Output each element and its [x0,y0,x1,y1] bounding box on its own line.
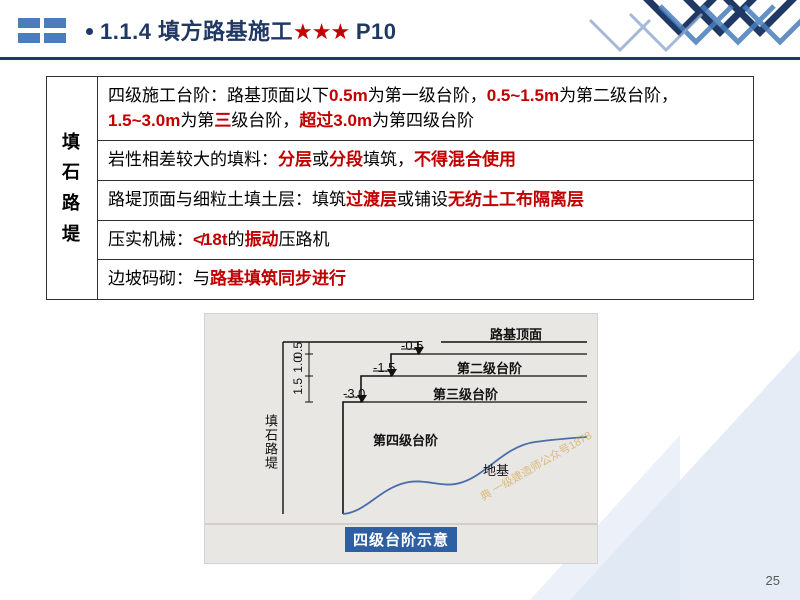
header-logo-blocks [18,18,70,44]
text-segment: 的 [228,230,245,249]
table-row: 压实机械：≮18t的振动压路机 [47,220,754,260]
figure-label-left-vertical: 填石路堤 [261,414,280,470]
text-segment: 压路机 [279,230,330,249]
logo-block-1 [18,18,40,28]
text-segment: 级台阶， [231,111,299,130]
text-segment: ≮18t [193,230,228,249]
text-segment: 0.5~1.5m [487,86,559,105]
text-segment: 岩性相差较大的填料： [108,150,278,169]
text-segment: 0.5m [329,86,368,105]
text-segment: 填筑， [363,150,414,169]
figure-label-step3: 第三级台阶 [433,384,498,403]
text-segment: 为第二级台阶， [559,86,678,105]
text-segment: 边坡码砌：与 [108,269,210,288]
figure-depth-05: -0.5 [401,338,423,353]
text-segment: 过渡层 [346,190,397,209]
logo-block-4 [44,33,66,43]
text-segment: 或铺设 [397,190,448,209]
text-segment: 路基填筑同步进行 [210,269,346,288]
star-rating: ★★★ [293,19,349,44]
row-label-char-1: 填 [47,127,97,158]
table-row: 路堤顶面与细粒土填土层：填筑过渡层或铺设无纺土工布隔离层 [47,180,754,220]
header-divider [0,57,800,60]
table-cell-1: 四级施工台阶：路基顶面以下0.5m为第一级台阶，0.5~1.5m为第二级台阶，1… [98,77,754,141]
row-label-cell: 填 石 路 堤 [47,77,98,300]
table-cell-5: 边坡码砌：与路基填筑同步进行 [98,260,754,300]
table-cell-4: 压实机械：≮18t的振动压路机 [98,220,754,260]
page-reference: P10 [356,19,397,44]
logo-block-2 [44,18,66,28]
page-title: 1.1.4 填方路基施工★★★ P10 [100,14,397,46]
logo-block-3 [18,33,40,43]
background-triangle [570,350,800,600]
text-segment: 分段 [329,150,363,169]
figure-label-top-surface: 路基顶面 [490,324,542,343]
row-label-char-2: 石 [47,157,97,188]
text-segment: 1.5~3.0m [108,111,180,130]
table-cell-3: 路堤顶面与细粒土填土层：填筑过渡层或铺设无纺土工布隔离层 [98,180,754,220]
text-segment: 超过3.0m [299,111,372,130]
text-segment: 为第一级台阶， [368,86,487,105]
text-segment: 不得混合使用 [414,150,516,169]
text-segment: 压实机械： [108,230,193,249]
table-cell-2: 岩性相差较大的填料：分层或分段填筑，不得混合使用 [98,141,754,181]
table-row: 填 石 路 堤 四级施工台阶：路基顶面以下0.5m为第一级台阶，0.5~1.5m… [47,77,754,141]
content-table: 填 石 路 堤 四级施工台阶：路基顶面以下0.5m为第一级台阶，0.5~1.5m… [46,76,754,300]
figure-depth-15: -1.5 [373,360,395,375]
figure-dim-10: 1.0 [291,356,305,373]
figure-depth-30: -3.0 [343,386,365,401]
page-number: 25 [766,573,780,588]
text-segment: 或 [312,150,329,169]
figure-label-step4: 第四级台阶 [373,430,438,449]
table-row: 边坡码砌：与路基填筑同步进行 [47,260,754,300]
page-header: 1.1.4 填方路基施工★★★ P10 [0,0,800,62]
row-label-char-3: 路 [47,188,97,219]
text-segment: 分层 [278,150,312,169]
text-segment: 无纺土工布隔离层 [448,190,584,209]
figure-dim-15: 1.5 [291,378,305,395]
text-segment: 振动 [245,230,279,249]
row-label-char-4: 堤 [47,219,97,250]
table-row: 岩性相差较大的填料：分层或分段填筑，不得混合使用 [47,141,754,181]
bullet-icon [86,28,93,35]
page-title-text: 1.1.4 填方路基施工 [100,19,293,44]
text-segment: 三 [214,111,231,130]
figure-label-step2: 第二级台阶 [457,358,522,377]
text-segment: 为第四级台阶 [372,111,474,130]
text-segment: 为第 [180,111,214,130]
header-chevron-decoration [480,0,800,62]
text-segment: 路堤顶面与细粒土填土层：填筑 [108,190,346,209]
text-segment: 四级施工台阶：路基顶面以下 [108,86,329,105]
diagram-figure: 填石路堤 0.5 1.0 1.5 -0.5 -1.5 -3.0 路基顶面 第二级… [204,313,598,564]
figure-caption: 四级台阶示意 [345,527,457,552]
